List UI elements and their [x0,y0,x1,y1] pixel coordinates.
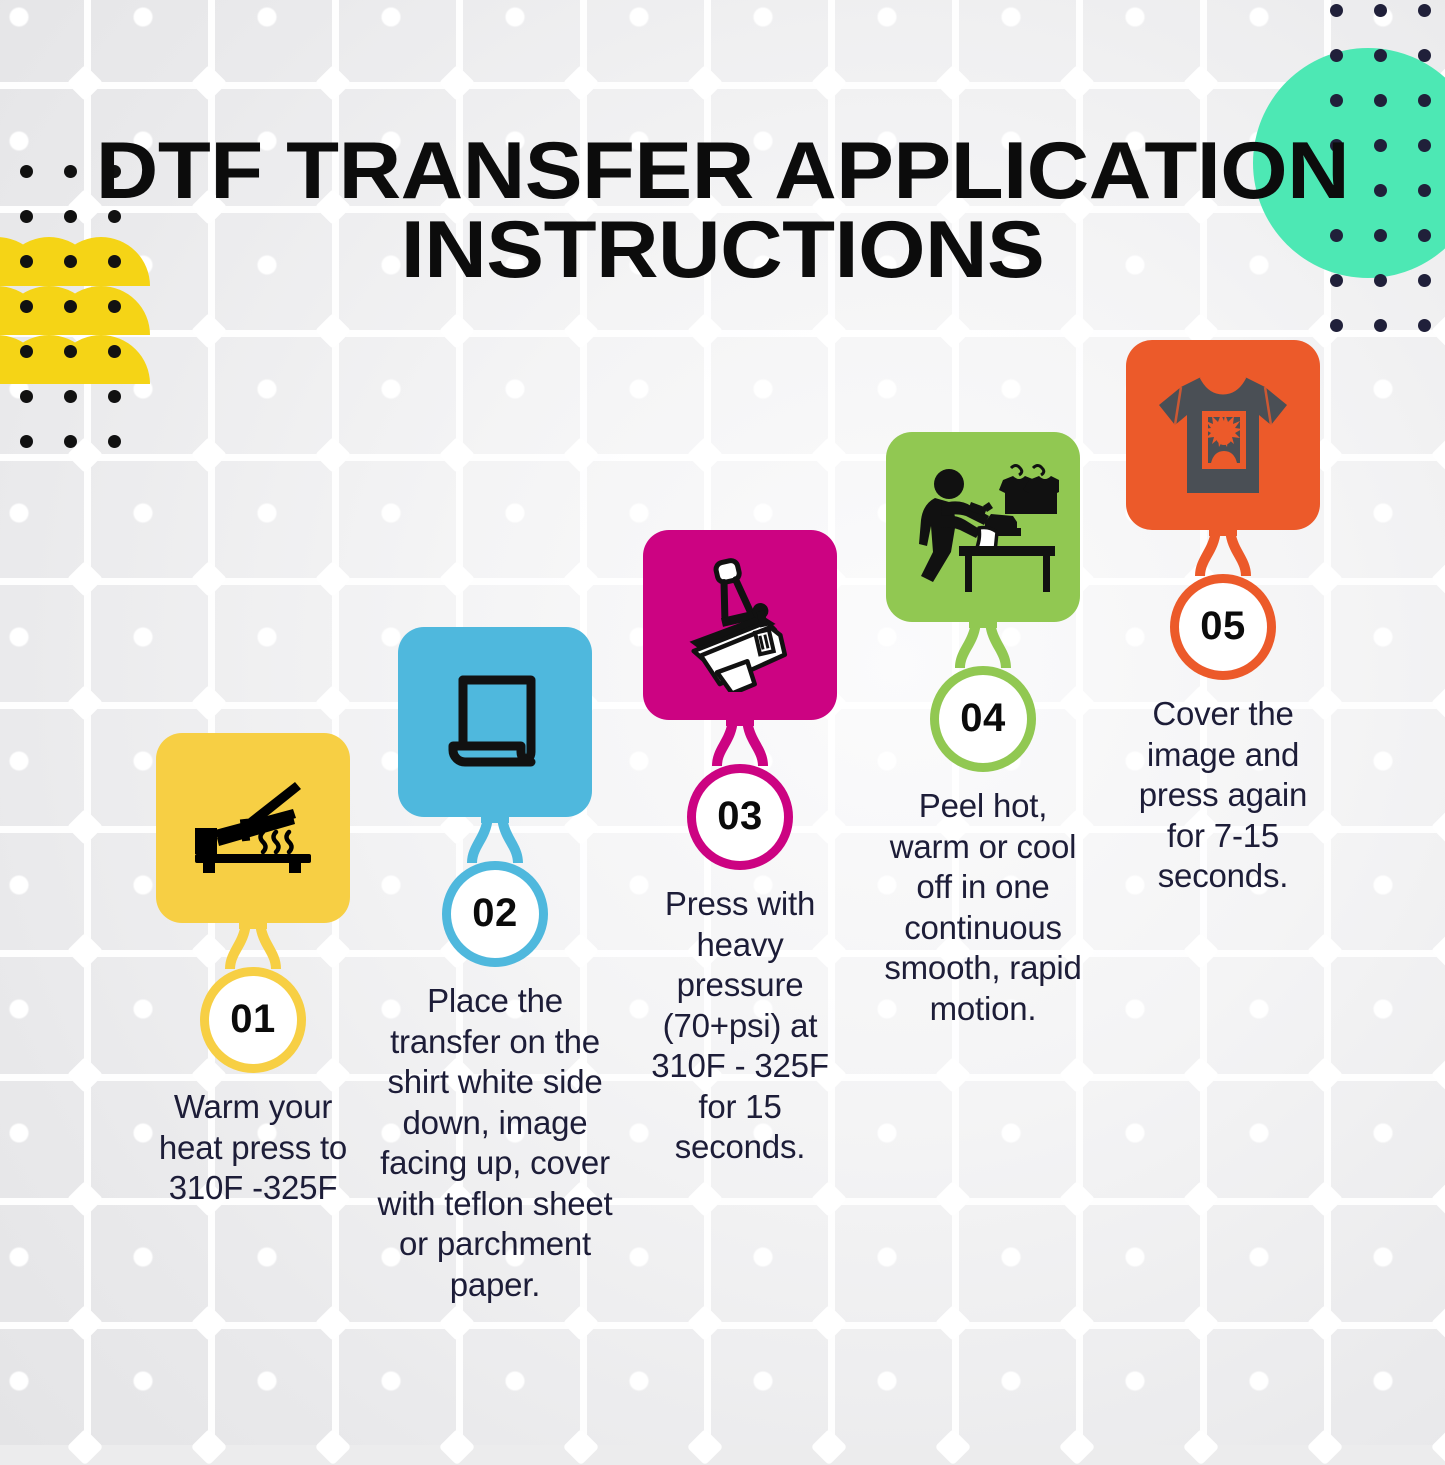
step-01-description: Warm your heat press to 310F -325F [146,1087,361,1209]
step-05-description: Cover the image and press again for 7-15… [1125,694,1321,897]
step-01-icon-card [156,733,350,923]
step-02-description: Place the transfer on the shirt white si… [372,981,618,1306]
step-05: 05 Cover the image and press again for 7… [1098,340,1348,897]
step-03: 03 Press with heavy pressure (70+psi) at… [615,530,865,1168]
steps-container: 01 Warm your heat press to 310F -325F 02… [0,0,1445,1445]
step-04-number: 04 [960,696,1006,741]
step-02: 02 Place the transfer on the shirt white… [370,627,620,1306]
printed-tshirt-icon [1153,371,1293,499]
step-05-icon-card [1126,340,1320,530]
heat-press-open-icon [189,776,317,880]
heat-press-machine-icon [677,558,803,692]
step-03-icon-card [643,530,837,720]
step-04-number-badge: 04 [930,666,1036,772]
step-02-number-badge: 02 [442,861,548,967]
step-04: 04 Peel hot, warm or cool off in one con… [858,432,1108,1029]
step-01-number: 01 [230,997,276,1042]
step-05-number-badge: 05 [1170,574,1276,680]
step-02-icon-card [398,627,592,817]
transfer-sheet-icon [441,668,549,776]
step-03-number-badge: 03 [687,764,793,870]
step-03-description: Press with heavy pressure (70+psi) at 31… [633,884,848,1168]
worker-peeling-icon [907,462,1059,592]
step-03-number: 03 [717,794,763,839]
step-01-number-badge: 01 [200,967,306,1073]
step-04-icon-card [886,432,1080,622]
step-05-number: 05 [1200,604,1246,649]
step-02-number: 02 [472,891,518,936]
step-04-description: Peel hot, warm or cool off in one contin… [883,786,1083,1029]
step-01: 01 Warm your heat press to 310F -325F [128,733,378,1209]
